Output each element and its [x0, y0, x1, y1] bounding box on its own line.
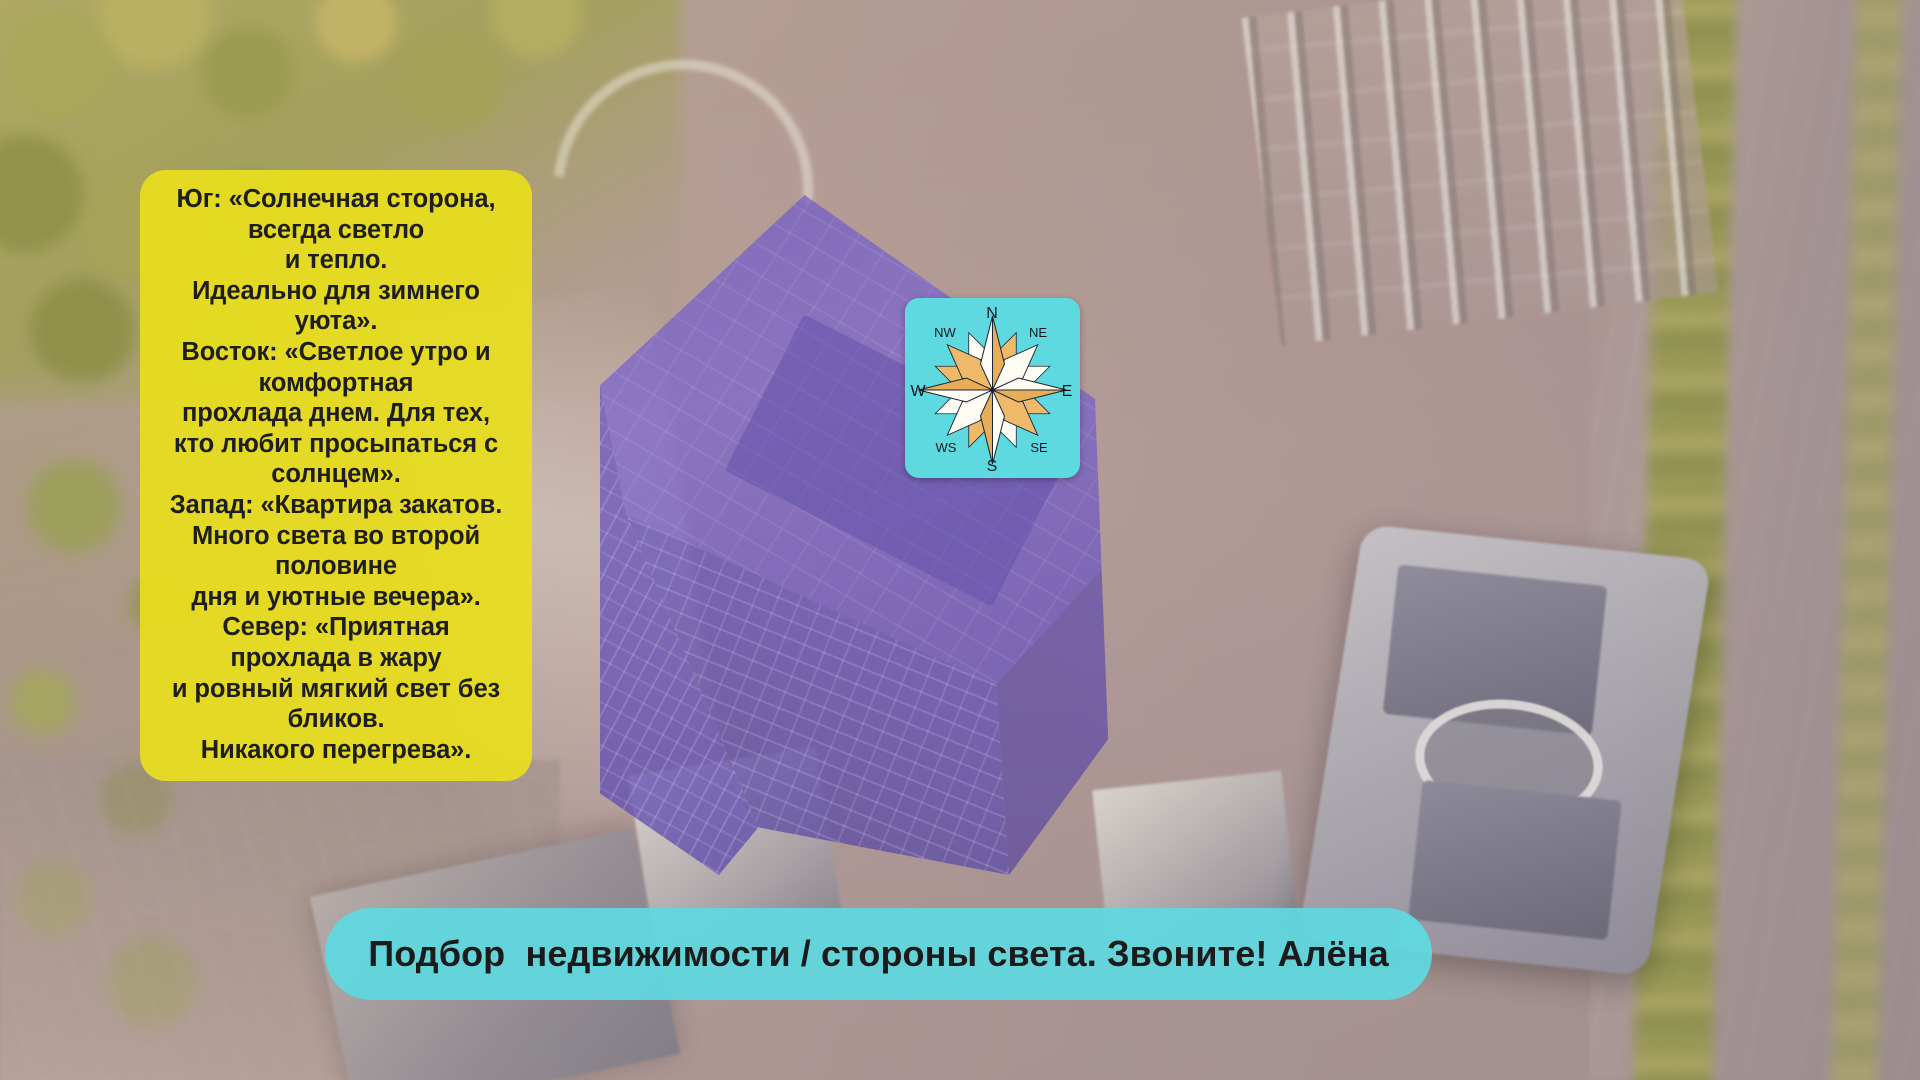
info-line-9: солнцем».: [152, 459, 520, 490]
compass-label-n: N: [986, 305, 998, 322]
compass-label-se: SE: [1030, 440, 1048, 455]
info-line-12: половине: [152, 551, 520, 582]
promo-image: Юг: «Солнечная сторона, всегда светло и …: [0, 0, 1920, 1080]
info-line-15: прохлада в жару: [152, 643, 520, 674]
info-line-6: комфортная: [152, 368, 520, 399]
info-card: Юг: «Солнечная сторона, всегда светло и …: [140, 170, 532, 781]
compass-label-w: W: [910, 383, 926, 400]
info-line-16: и ровный мягкий свет без: [152, 674, 520, 705]
compass-rose-icon: N NE E SE S WS W NW: [905, 298, 1080, 478]
compass-label-e: E: [1062, 383, 1073, 400]
compass-label-nw: NW: [934, 325, 956, 340]
info-line-18: Никакого перегрева».: [152, 735, 520, 766]
info-line-5: Восток: «Светлое утро и: [152, 337, 520, 368]
info-line-1: всегда светло: [152, 215, 520, 246]
info-line-7: прохлада днем. Для тех,: [152, 398, 520, 429]
compass-label-sw: WS: [936, 440, 957, 455]
compass-rose-card: N NE E SE S WS W NW: [905, 298, 1080, 478]
info-line-3: Идеально для зимнего: [152, 276, 520, 307]
info-line-13: дня и уютные вечера».: [152, 582, 520, 613]
info-line-17: бликов.: [152, 704, 520, 735]
cta-banner-text: Подбор недвижимости / стороны света. Зво…: [368, 933, 1389, 975]
highlighted-building: [600, 195, 1260, 875]
cta-banner[interactable]: Подбор недвижимости / стороны света. Зво…: [325, 908, 1432, 1000]
info-line-14: Север: «Приятная: [152, 612, 520, 643]
courtyard-lower-right: [1408, 780, 1622, 940]
compass-label-ne: NE: [1029, 325, 1047, 340]
compass-label-s: S: [987, 458, 998, 475]
info-line-11: Много света во второй: [152, 521, 520, 552]
info-line-8: кто любит просыпаться с: [152, 429, 520, 460]
info-line-0: Юг: «Солнечная сторона,: [152, 184, 520, 215]
info-line-10: Запад: «Квартира закатов.: [152, 490, 520, 521]
parking-lot: [1242, 0, 1719, 346]
info-line-2: и тепло.: [152, 245, 520, 276]
info-line-4: уюта».: [152, 306, 520, 337]
